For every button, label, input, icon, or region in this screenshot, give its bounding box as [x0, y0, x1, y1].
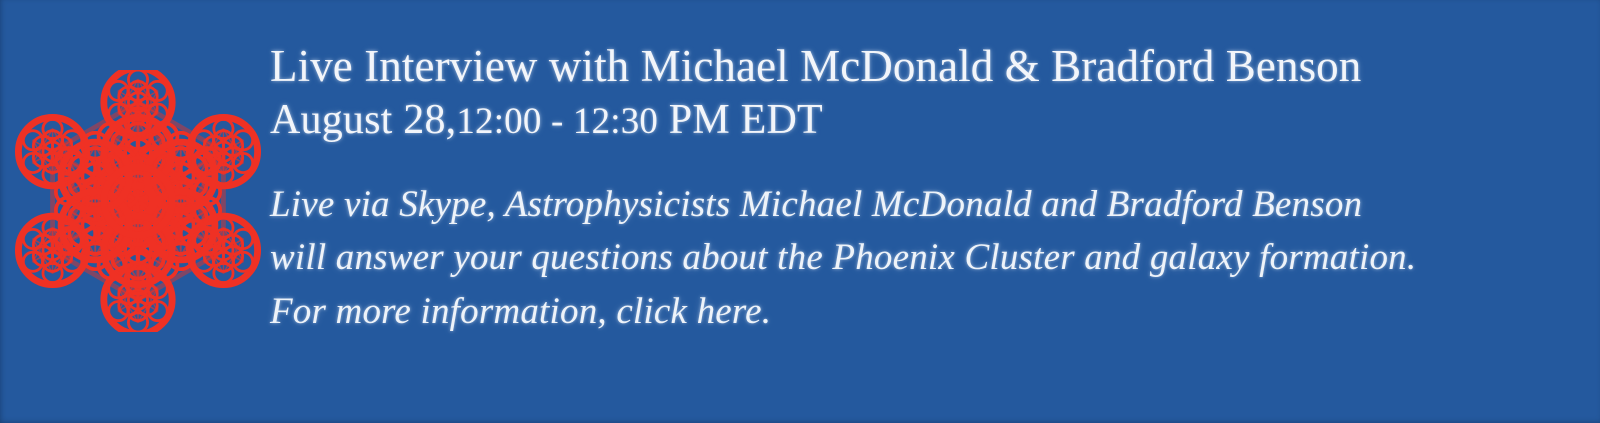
event-datetime: August 28,12:00 - 12:30 PM EDT: [270, 95, 1580, 145]
event-time: 12:00 - 12:30: [456, 100, 658, 141]
event-announcement-banner: Live Interview with Michael McDonald & B…: [0, 0, 1600, 423]
banner-text-column: Live Interview with Michael McDonald & B…: [270, 40, 1580, 338]
description-line-3: For more information, click here.: [270, 285, 1580, 338]
event-timezone: PM EDT: [658, 97, 823, 143]
description-line-1: Live via Skype, Astrophysicists Michael …: [270, 178, 1580, 231]
page-title: Live Interview with Michael McDonald & B…: [270, 40, 1580, 93]
event-description: Live via Skype, Astrophysicists Michael …: [270, 178, 1580, 338]
more-info-text: For more information,: [270, 291, 616, 332]
click-here-link[interactable]: click here.: [616, 291, 771, 332]
metatrons-cube-fractal-logo: [14, 70, 262, 332]
description-line-2: will answer your questions about the Pho…: [270, 231, 1580, 284]
headline-group: Live Interview with Michael McDonald & B…: [270, 40, 1580, 145]
event-date: August 28,: [270, 97, 456, 143]
